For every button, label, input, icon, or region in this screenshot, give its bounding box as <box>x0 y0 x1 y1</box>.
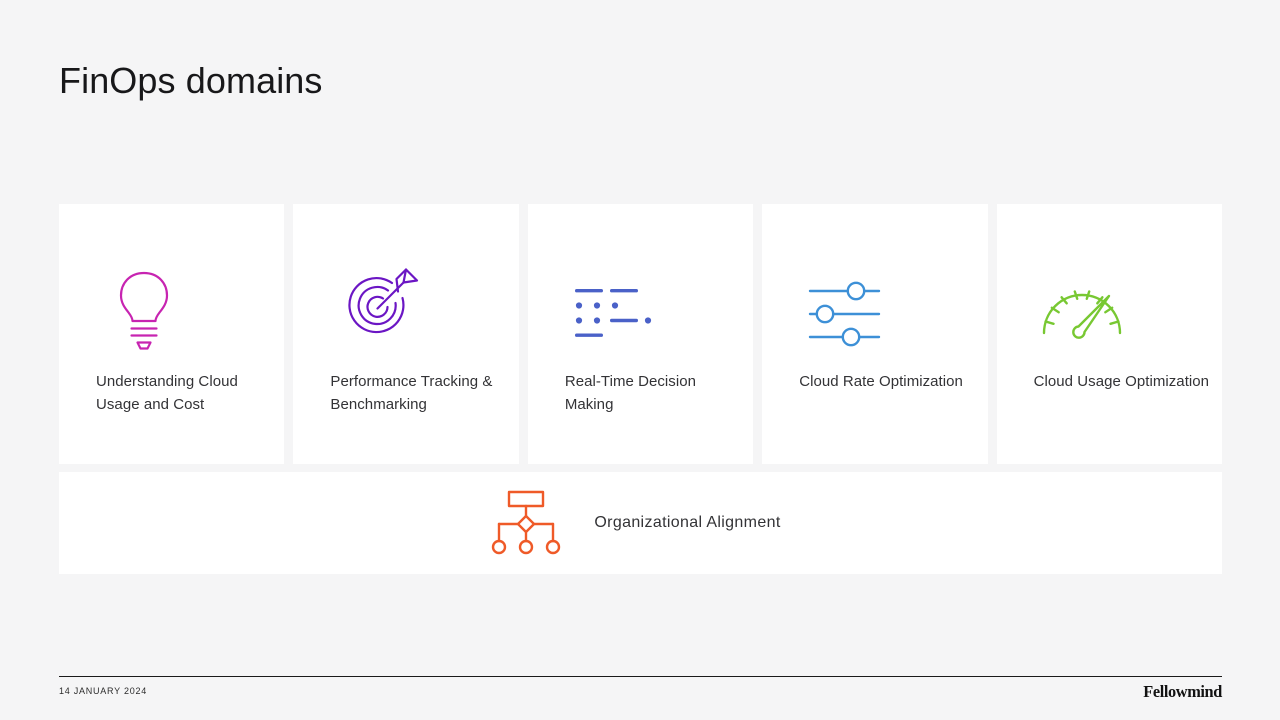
speedometer-gauge-icon <box>1034 260 1130 356</box>
morse-dashes-dots-icon <box>565 260 661 356</box>
org-chart-icon <box>488 485 564 561</box>
card-organizational-alignment[interactable]: Organizational Alignment <box>59 472 1222 574</box>
slide-canvas: FinOps domains Understanding Cloud Usage… <box>0 0 1280 720</box>
lightbulb-icon <box>96 260 192 356</box>
card-performance-tracking-benchmarking[interactable]: Performance Tracking & Benchmarking <box>293 204 518 464</box>
fellowmind-logo: Fellowmind <box>1143 682 1222 702</box>
footer-date: 14 JANUARY 2024 <box>59 686 147 696</box>
page-title: FinOps domains <box>59 58 323 104</box>
footer-divider <box>59 676 1222 677</box>
card-label: Cloud Rate Optimization <box>799 370 975 393</box>
wide-bar-label: Organizational Alignment <box>594 514 780 532</box>
domain-card-row: Understanding Cloud Usage and Cost Perfo… <box>59 204 1222 464</box>
card-label: Cloud Usage Optimization <box>1034 370 1210 393</box>
card-label: Real-Time Decision Making <box>565 370 741 416</box>
card-real-time-decision-making[interactable]: Real-Time Decision Making <box>528 204 753 464</box>
card-cloud-rate-optimization[interactable]: Cloud Rate Optimization <box>762 204 987 464</box>
card-label: Performance Tracking & Benchmarking <box>330 370 506 416</box>
wide-bar-content: Organizational Alignment <box>488 485 780 561</box>
card-understanding-cloud-usage-and-cost[interactable]: Understanding Cloud Usage and Cost <box>59 204 284 464</box>
card-cloud-usage-optimization[interactable]: Cloud Usage Optimization <box>997 204 1222 464</box>
card-label: Understanding Cloud Usage and Cost <box>96 370 272 416</box>
sliders-icon <box>799 260 895 356</box>
target-arrow-icon <box>330 260 426 356</box>
